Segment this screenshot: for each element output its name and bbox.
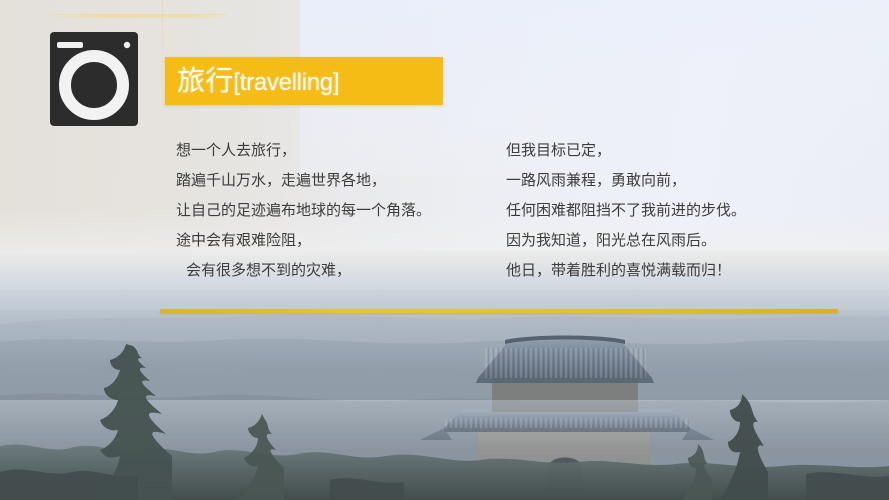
poem-line: 想一个人去旅行， <box>176 136 486 166</box>
landscape-photo <box>0 250 889 500</box>
poem-column-right: 但我目标已定， 一路风雨兼程，勇敢向前， 任何困难都阻挡不了我前进的步伐。 因为… <box>506 136 846 286</box>
decorative-vertical-line <box>162 0 163 146</box>
decorative-horizontal-line <box>50 14 226 18</box>
title-english: [travelling] <box>233 69 339 96</box>
poem-line: 途中会有艰难险阻， <box>176 226 486 256</box>
poem-line: 一路风雨兼程，勇敢向前， <box>506 166 846 196</box>
camera-icon <box>48 30 140 128</box>
poem-line: 会有很多想不到的灾难， <box>176 256 486 286</box>
poem-line: 让自己的足迹遍布地球的每一个角落。 <box>176 196 486 226</box>
poem-line: 但我目标已定， <box>506 136 846 166</box>
gold-divider-rule <box>160 309 838 313</box>
page-title: 旅行[travelling] <box>165 67 339 95</box>
poem-line: 他日，带着胜利的喜悦满载而归！ <box>506 256 846 286</box>
slide-canvas: 旅行[travelling] 想一个人去旅行， 踏遍千山万水，走遍世界各地， 让… <box>0 0 889 500</box>
poem-column-left: 想一个人去旅行， 踏遍千山万水，走遍世界各地， 让自己的足迹遍布地球的每一个角落… <box>176 136 486 286</box>
poem-line: 任何困难都阻挡不了我前进的步伐。 <box>506 196 846 226</box>
poem-line: 因为我知道，阳光总在风雨后。 <box>506 226 846 256</box>
title-banner: 旅行[travelling] <box>165 57 443 105</box>
title-chinese: 旅行 <box>177 65 233 96</box>
poem-line: 踏遍千山万水，走遍世界各地， <box>176 166 486 196</box>
